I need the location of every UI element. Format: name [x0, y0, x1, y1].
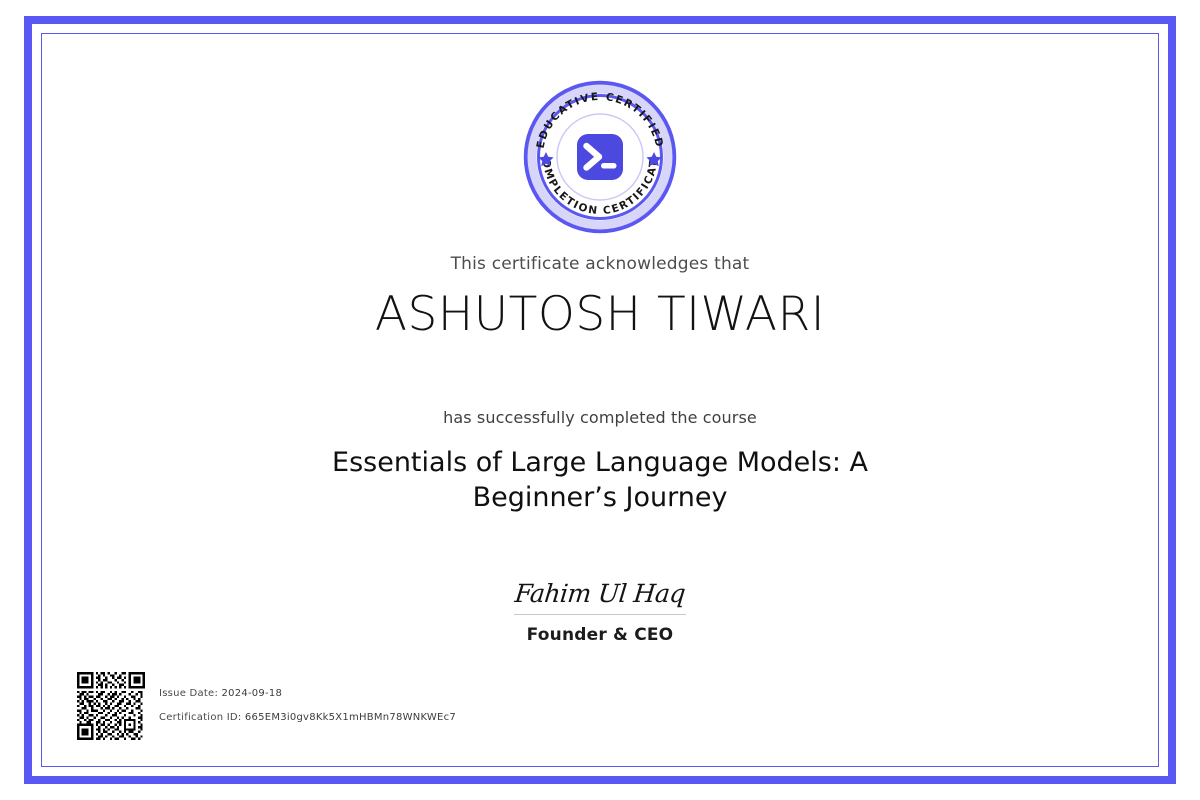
certificate-footer: Issue Date: 2024-09-18 Certification ID:… [77, 672, 456, 740]
signature-role: Founder & CEO [500, 625, 700, 645]
certificate-seal: EDUCATIVE CERTIFIED COMPLETION CERTIFICA… [522, 79, 678, 235]
terminal-prompt-icon [577, 134, 623, 180]
qr-code-icon[interactable] [77, 672, 145, 740]
signature-name: Fahim Ul Haq [499, 580, 702, 608]
issue-date-row: Issue Date: 2024-09-18 [159, 689, 456, 699]
acknowledgement-line: This certificate acknowledges that [32, 254, 1168, 274]
certification-id-row: Certification ID: 665EM3i0gv8Kk5X1mHBMn7… [159, 713, 456, 723]
recipient-name: ASHUTOSH TIWARI [32, 288, 1168, 342]
issue-date-value: 2024-09-18 [222, 688, 283, 699]
signature-block: Fahim Ul Haq Founder & CEO [500, 580, 700, 645]
certificate-frame: EDUCATIVE CERTIFIED COMPLETION CERTIFICA… [24, 16, 1176, 784]
issue-date-label: Issue Date: [159, 688, 218, 699]
signature-divider [514, 614, 686, 615]
course-title: Essentials of Large Language Models: A B… [310, 446, 890, 515]
footer-meta: Issue Date: 2024-09-18 Certification ID:… [159, 689, 456, 723]
completion-line: has successfully completed the course [32, 408, 1168, 427]
certification-id-label: Certification ID: [159, 712, 241, 723]
certification-id-value: 665EM3i0gv8Kk5X1mHBMn78WNKWEc7 [245, 712, 456, 723]
certificate-content: EDUCATIVE CERTIFIED COMPLETION CERTIFICA… [32, 24, 1168, 776]
